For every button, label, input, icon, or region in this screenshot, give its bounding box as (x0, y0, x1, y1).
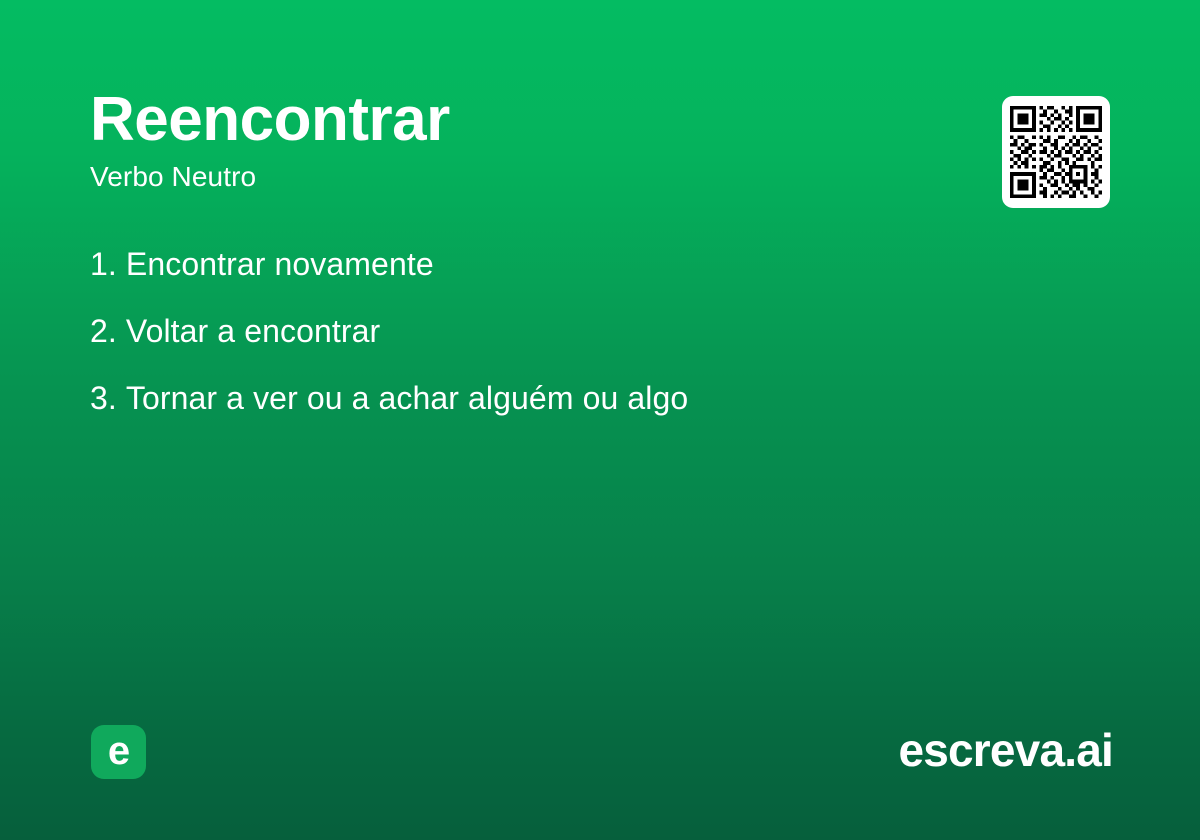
headline-block: Reencontrar Verbo Neutro (90, 86, 950, 194)
brand-logo[interactable]: e (91, 725, 146, 779)
qr-code-icon (1010, 105, 1102, 199)
page-title: Reencontrar (90, 86, 950, 154)
list-item: 2. Voltar a encontrar (90, 311, 1090, 378)
brand-logo-letter: e (108, 731, 129, 771)
brand-wordmark[interactable]: escreva.ai (898, 722, 1113, 778)
definition-text: Encontrar novamente (126, 244, 434, 284)
word-class-label: Verbo Neutro (90, 160, 950, 194)
definition-card: Reencontrar Verbo Neutro 1. Encontrar no… (0, 0, 1200, 840)
list-item: 1. Encontrar novamente (90, 244, 1090, 311)
definition-index: 3. (90, 378, 117, 418)
definition-index: 2. (90, 311, 117, 351)
definition-list: 1. Encontrar novamente 2. Voltar a encon… (90, 244, 1090, 445)
qr-code-card[interactable] (1002, 96, 1110, 208)
definition-text: Voltar a encontrar (126, 311, 380, 351)
list-item: 3. Tornar a ver ou a achar alguém ou alg… (90, 378, 1090, 445)
definition-text: Tornar a ver ou a achar alguém ou algo (126, 378, 688, 418)
definition-index: 1. (90, 244, 117, 284)
